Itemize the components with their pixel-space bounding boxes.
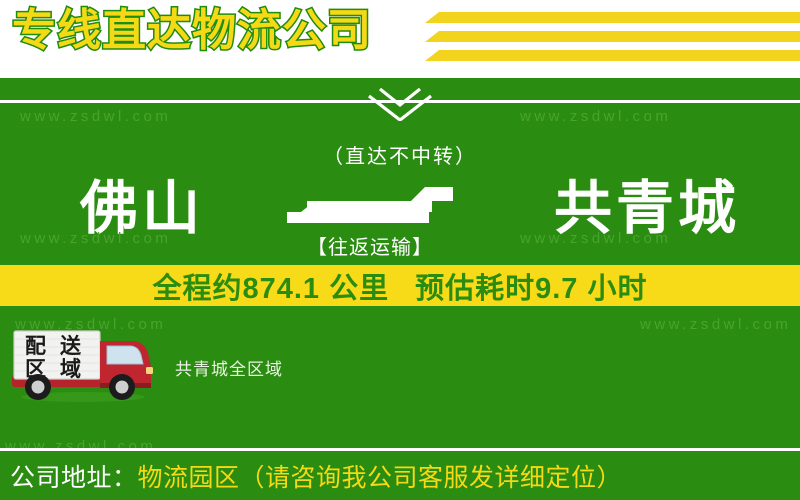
delivery-row: 配 送 区 域 共青城全区域 [0, 323, 800, 413]
delivery-truck-icon: 配 送 区 域 [8, 323, 158, 403]
double-arrow-icon [285, 185, 455, 230]
stripe-1 [425, 12, 800, 23]
double-chevron-down-icon [355, 87, 445, 121]
watermark-5: www.zsdwl.com [640, 316, 791, 333]
round-trip-label: 【往返运输】 [275, 231, 465, 260]
watermark-1: www.zsdwl.com [520, 108, 671, 125]
poster-header: 专线直达物流公司 [0, 0, 800, 78]
decorative-stripes [415, 10, 800, 68]
company-title: 专线直达物流公司 [12, 7, 372, 55]
svg-text:送: 送 [60, 334, 82, 358]
watermark-0: www.zsdwl.com [20, 108, 171, 125]
delivery-area-text: 共青城全区域 [175, 355, 283, 380]
logistics-poster: 专线直达物流公司 （直达不中转） 佛山 [0, 0, 800, 500]
address-label: 公司地址： [10, 458, 138, 494]
stripe-2 [425, 31, 800, 42]
stats-bar: 全程约874.1 公里 预估耗时9.7 小时 [0, 265, 800, 306]
distance-text: 全程约874.1 公里 [152, 265, 389, 307]
svg-text:域: 域 [60, 357, 81, 381]
direct-route-label: （直达不中转） [0, 140, 800, 169]
poster-footer: 公司地址： 物流园区（请咨询我公司客服发详细定位） [0, 451, 800, 500]
stripe-3 [425, 50, 800, 61]
watermark-2: www.zsdwl.com [20, 230, 171, 247]
duration-text: 预估耗时9.7 小时 [415, 265, 647, 307]
watermark-4: www.zsdwl.com [15, 316, 166, 333]
svg-text:配: 配 [25, 335, 46, 358]
address-value: 物流园区（请咨询我公司客服发详细定位） [138, 458, 623, 494]
poster-body: （直达不中转） 佛山 【往返运输】 共青城 全程约874.1 公里 预估耗时9.… [0, 78, 800, 450]
watermark-3: www.zsdwl.com [520, 230, 671, 247]
